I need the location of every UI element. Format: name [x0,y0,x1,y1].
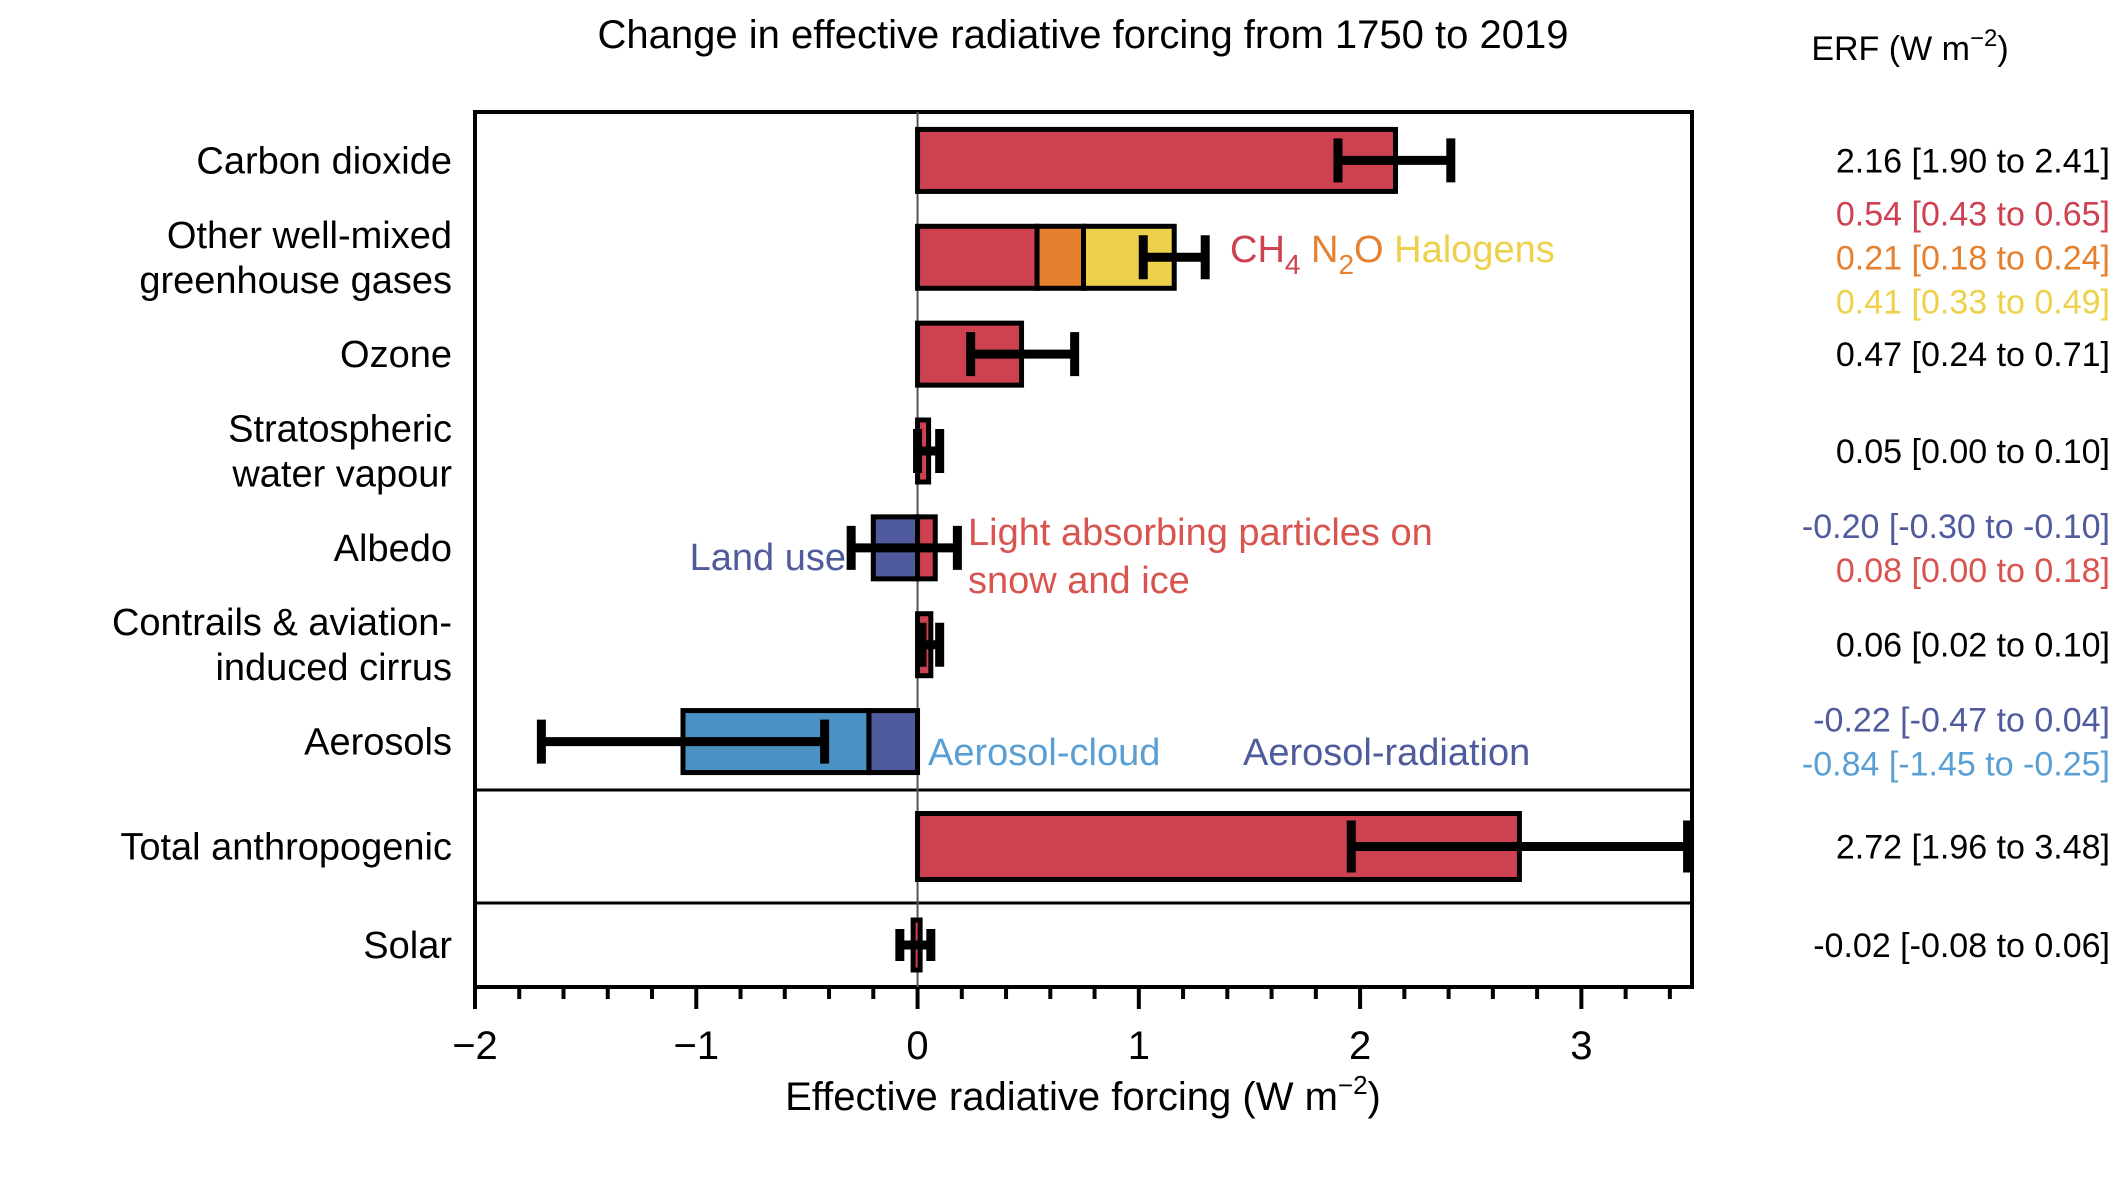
erf-value: 0.06 [0.02 to 0.10] [1836,627,2110,665]
x-tick-label: 2 [1349,1024,1371,1068]
category-label: Other well-mixed [167,215,452,257]
n2o-label: N [1300,229,1338,271]
light-absorbing-particles-label-line2: snow and ice [968,560,1190,602]
chart-title: Change in effective radiative forcing fr… [598,13,1569,57]
erf-header-exponent: −2 [1970,25,1997,52]
radiative-forcing-chart: Change in effective radiative forcing fr… [0,0,2126,1182]
bar-segment [918,226,1037,288]
category-label: Ozone [340,334,452,376]
x-tick-label: 3 [1570,1024,1592,1068]
x-axis-title-paren: ) [1368,1075,1381,1119]
aerosol-radiation-label: Aerosol-radiation [1243,732,1530,774]
category-label: Contrails & aviation- [112,602,452,644]
category-label: Albedo [334,528,452,570]
category-label: Solar [363,925,452,967]
bar-group [918,226,1175,288]
x-axis-title-text: Effective radiative forcing (W m [785,1075,1338,1119]
x-axis-title: Effective radiative forcing (W m−2) [785,1070,1381,1119]
category-label: Carbon dioxide [196,140,452,182]
x-axis-title-exponent: −2 [1338,1070,1368,1100]
bar-group [918,129,1396,191]
ch4-subscript: 4 [1285,249,1301,280]
erf-value: 0.21 [0.18 to 0.24] [1836,239,2110,277]
x-tick-label: −1 [673,1024,719,1068]
light-absorbing-particles-label: Light absorbing particles on [968,512,1433,554]
halogens-label: Halogens [1384,229,1555,271]
erf-value: 0.54 [0.43 to 0.65] [1836,195,2110,233]
erf-value: 0.08 [0.00 to 0.18] [1836,552,2110,590]
bar-segment [1037,226,1083,288]
x-tick-label: 1 [1128,1024,1150,1068]
category-label: Stratospheric [228,409,452,451]
land-use-label: Land use [690,537,846,579]
x-tick-label: −2 [452,1024,498,1068]
erf-value: -0.02 [-0.08 to 0.06] [1813,927,2110,965]
erf-header-paren: ) [1997,30,2008,68]
erf-header-text: ERF (W m [1811,30,1970,68]
erf-values-column: 2.16 [1.90 to 2.41]0.54 [0.43 to 0.65]0.… [1802,142,2110,965]
category-label: water vapour [231,454,452,496]
category-label: induced cirrus [215,647,452,689]
bar-segment [918,129,1396,191]
x-tick-label: 0 [906,1024,928,1068]
aerosol-cloud-label: Aerosol-cloud [928,732,1160,774]
erf-value: -0.20 [-0.30 to -0.10] [1802,508,2110,546]
n2o-subscript: 2 [1338,249,1354,280]
erf-value: -0.84 [-1.45 to -0.25] [1802,746,2110,784]
category-label: Aerosols [304,722,452,764]
erf-value: 0.05 [0.00 to 0.10] [1836,433,2110,471]
bar-segment [869,711,918,773]
erf-value: 0.41 [0.33 to 0.49] [1836,283,2110,321]
ch4-label: CH [1230,229,1285,271]
category-label: greenhouse gases [139,260,452,302]
chart-page: Change in effective radiative forcing fr… [0,0,2126,1182]
erf-value: 2.16 [1.90 to 2.41] [1836,142,2110,180]
category-label: Total anthropogenic [120,827,452,869]
erf-value: 0.47 [0.24 to 0.71] [1836,336,2110,374]
erf-value: 2.72 [1.96 to 3.48] [1836,829,2110,867]
erf-value: -0.22 [-0.47 to 0.04] [1813,702,2110,740]
n2o-label-o: O [1354,229,1384,271]
